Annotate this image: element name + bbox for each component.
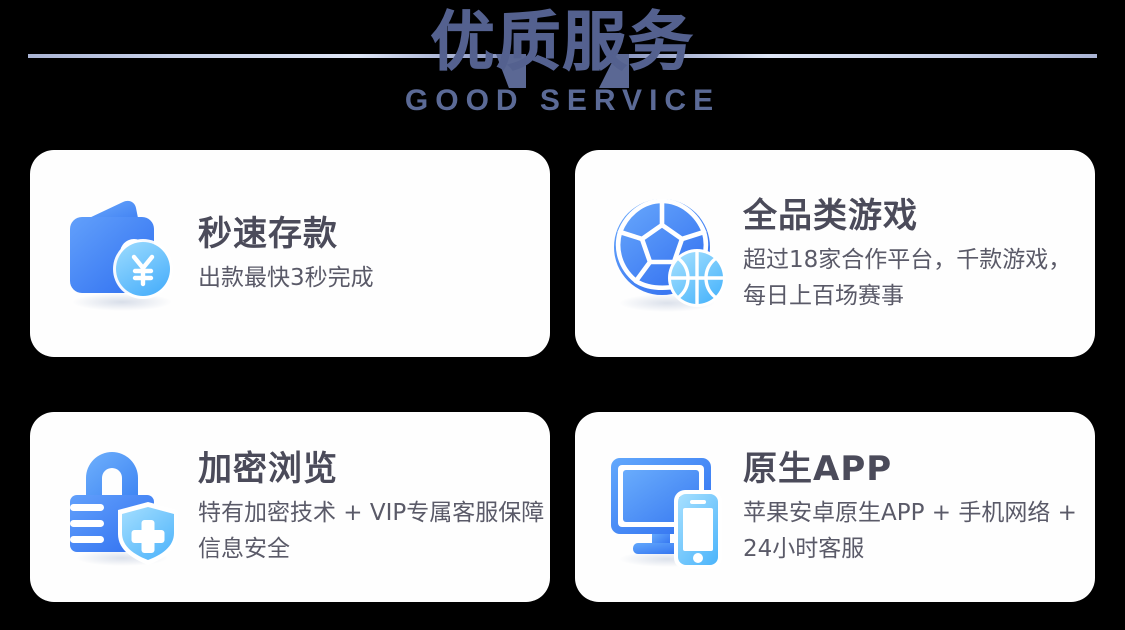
page-title: 优质服务 [0, 0, 1125, 86]
feature-card-games[interactable]: 全品类游戏 超过18家合作平台，千款游戏，每日上百场赛事 [575, 150, 1095, 357]
card-title: 全品类游戏 [743, 194, 1083, 238]
card-subtitle: 特有加密技术 + VIP专属客服保障信息安全 [198, 495, 550, 567]
feature-card-encryption[interactable]: 加密浏览 特有加密技术 + VIP专属客服保障信息安全 [30, 412, 550, 602]
feature-card-native-app[interactable]: 原生APP 苹果安卓原生APP + 手机网络 + 24小时客服 [575, 412, 1095, 602]
card-title: 秒速存款 [198, 212, 374, 256]
lock-shield-icon [60, 442, 190, 572]
card-subtitle: 苹果安卓原生APP + 手机网络 + 24小时客服 [743, 495, 1083, 567]
feature-card-text: 全品类游戏 超过18家合作平台，千款游戏，每日上百场赛事 [743, 194, 1083, 314]
card-subtitle: 超过18家合作平台，千款游戏，每日上百场赛事 [743, 242, 1083, 314]
card-subtitle: 出款最快3秒完成 [198, 260, 374, 296]
card-title: 原生APP [743, 447, 1083, 491]
card-title: 加密浏览 [198, 447, 550, 491]
promo-banner: 优质服务 GOOD SERVICE [0, 0, 1125, 630]
feature-card-text: 加密浏览 特有加密技术 + VIP专属客服保障信息安全 [198, 447, 550, 567]
feature-card-text: 原生APP 苹果安卓原生APP + 手机网络 + 24小时客服 [743, 447, 1083, 567]
feature-card-text: 秒速存款 出款最快3秒完成 [198, 212, 374, 296]
page-subtitle: GOOD SERVICE [0, 84, 1125, 118]
soccer-basketball-icon [605, 189, 735, 319]
feature-card-deposit[interactable]: 秒速存款 出款最快3秒完成 [30, 150, 550, 357]
monitor-phone-icon [605, 442, 735, 572]
feature-card-grid: 秒速存款 出款最快3秒完成 [30, 150, 1095, 602]
banner-header: 优质服务 GOOD SERVICE [0, 0, 1125, 140]
header-title-block: 优质服务 GOOD SERVICE [0, 0, 1125, 118]
wallet-icon [60, 189, 190, 319]
